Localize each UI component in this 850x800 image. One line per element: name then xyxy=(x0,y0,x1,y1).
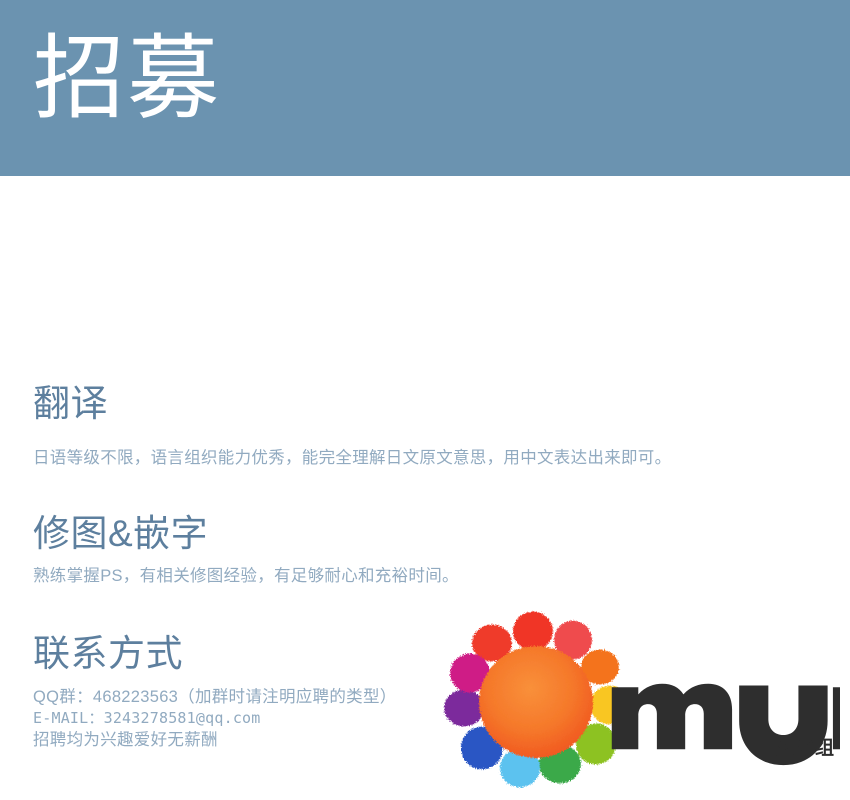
contact-lines: QQ群：468223563（加群时请注明应聘的类型） E-MAIL：324327… xyxy=(33,686,397,752)
logo-dot xyxy=(513,612,553,651)
logo-wordmark-mum xyxy=(610,655,840,785)
logo-watercolor-mark xyxy=(440,605,630,790)
logo-center-blob xyxy=(479,646,593,758)
contact-note: 招聘均为兴趣爱好无薪酬 xyxy=(33,729,397,752)
section-contact: 联系方式 QQ群：468223563（加群时请注明应聘的类型） E-MAIL：3… xyxy=(33,633,397,752)
section-retouch-typeset-body: 熟练掌握PS，有相关修图经验，有足够耐心和充裕时间。 xyxy=(33,564,459,589)
section-retouch-typeset: 修图&嵌字 熟练掌握PS，有相关修图经验，有足够耐心和充裕时间。 xyxy=(33,513,459,588)
section-translation-body: 日语等级不限，语言组织能力优秀，能完全理解日文原文意思，用中文表达出来即可。 xyxy=(33,446,671,471)
section-translation-heading: 翻译 xyxy=(33,383,671,426)
contact-qq-group: QQ群：468223563（加群时请注明应聘的类型） xyxy=(33,686,397,709)
logo-dot xyxy=(444,690,484,727)
contact-email: E-MAIL：3243278581@qq.com xyxy=(33,708,397,729)
logo-subtitle: 汉化组 xyxy=(775,733,835,760)
header-banner: 招募 xyxy=(0,0,850,176)
logo: 汉化组 xyxy=(440,605,840,790)
section-retouch-typeset-heading: 修图&嵌字 xyxy=(33,513,459,556)
page-title: 招募 xyxy=(33,28,221,131)
section-contact-heading: 联系方式 xyxy=(33,633,397,676)
section-translation: 翻译 日语等级不限，语言组织能力优秀，能完全理解日文原文意思，用中文表达出来即可… xyxy=(33,383,671,470)
